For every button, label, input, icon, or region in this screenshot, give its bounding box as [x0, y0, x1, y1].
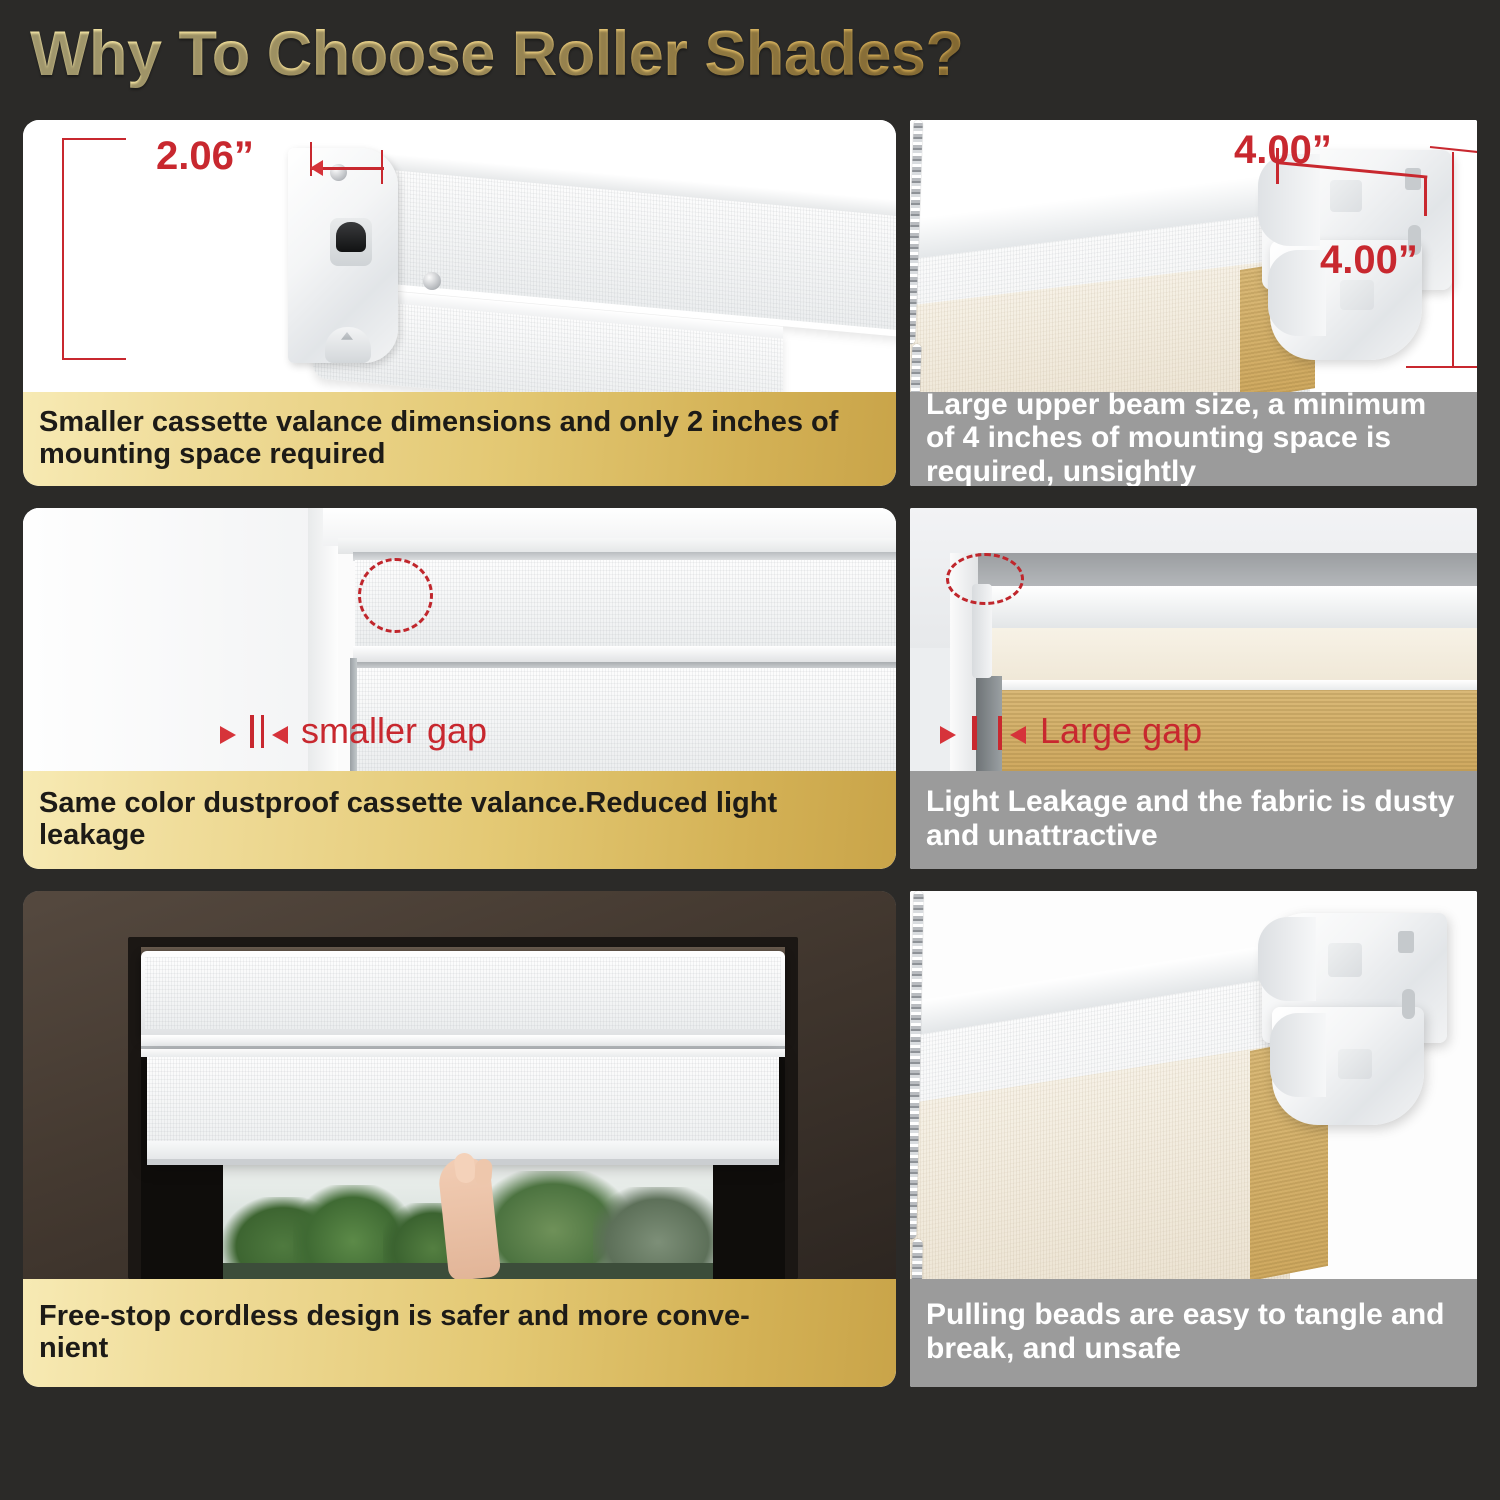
caption-middle-left: Same color dustproof cassette valance.Re… — [23, 771, 896, 869]
dimension-label-height: 5.49” — [23, 222, 24, 267]
dim-cap-bottom — [62, 358, 126, 360]
caption-bottom-right: Pulling beads are easy to tangle and bre… — [910, 1279, 1477, 1387]
gap-bar-b — [998, 716, 1002, 750]
dim-line-height — [62, 138, 64, 360]
gap-bar-b — [261, 715, 264, 748]
caption-top-right: Large upper beam size, a minimum of 4 in… — [910, 392, 1477, 486]
panel-bottom-right-image — [910, 891, 1477, 1279]
highlight-circle — [946, 553, 1024, 605]
gap-bar-a — [972, 716, 977, 750]
dim-cap-bottom — [1406, 366, 1477, 368]
panel-top-left: 2.06” 5.49” Smaller cassette valance dim… — [23, 120, 896, 486]
panel-middle-left-image: smaller gap — [23, 508, 896, 771]
gap-label-large: Large gap — [1040, 710, 1202, 752]
panel-bottom-left-image — [23, 891, 896, 1279]
gap-arrow-left — [940, 726, 956, 744]
beaded-chain — [910, 1239, 923, 1279]
panel-middle-left: smaller gap Same color dustproof cassett… — [23, 508, 896, 869]
gap-bar-a — [250, 715, 254, 748]
panel-top-right: 4.00” 4.00” Large upper beam size, a min… — [910, 120, 1477, 486]
dimension-label-height: 4.00” — [1320, 238, 1418, 283]
dimension-label-width: 4.00” — [1234, 128, 1332, 173]
beaded-chain — [910, 344, 921, 392]
dim-arrow-left — [310, 160, 323, 176]
dim-tick-right — [1424, 176, 1427, 216]
gap-arrow-right — [1010, 726, 1026, 744]
panel-middle-right: Large gap Light Leakage and the fabric i… — [910, 508, 1477, 869]
dim-line-height — [1452, 152, 1454, 367]
panel-bottom-left: Free-stop cordless design is safer and m… — [23, 891, 896, 1387]
caption-middle-right: Light Leakage and the fabric is dusty an… — [910, 771, 1477, 869]
dim-cap-top — [62, 138, 126, 140]
caption-bottom-left: Free-stop cordless design is safer and m… — [23, 1279, 896, 1387]
comparison-grid: 2.06” 5.49” Smaller cassette valance dim… — [0, 0, 1500, 1500]
panel-top-right-image: 4.00” 4.00” — [910, 120, 1477, 392]
gap-label-smaller: smaller gap — [301, 710, 487, 752]
caption-top-left: Smaller cassette valance dimensions and … — [23, 392, 896, 486]
highlight-circle — [358, 558, 433, 633]
dimension-label-width: 2.06” — [156, 134, 254, 179]
panel-bottom-right: Pulling beads are easy to tangle and bre… — [910, 891, 1477, 1387]
gap-arrow-left — [220, 726, 236, 744]
gap-arrow-right — [272, 726, 288, 744]
panel-top-left-image: 2.06” 5.49” — [23, 120, 896, 392]
panel-middle-right-image: Large gap — [910, 508, 1477, 771]
